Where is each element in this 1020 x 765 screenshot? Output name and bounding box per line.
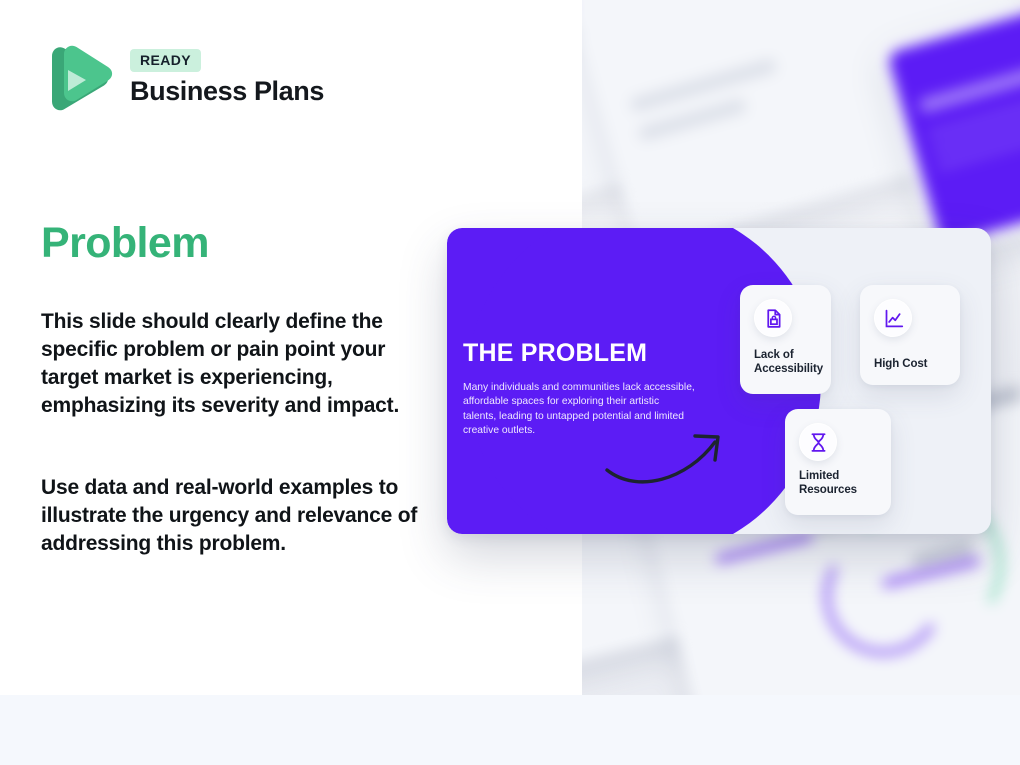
page-title: Problem	[41, 219, 209, 268]
ready-badge: READY	[130, 49, 201, 72]
brand-text: READY Business Plans	[130, 49, 324, 107]
bottom-strip	[0, 695, 1020, 765]
slide-preview-card[interactable]: THE PROBLEM Many individuals and communi…	[447, 228, 991, 534]
feature-card-high-cost[interactable]: High Cost	[860, 285, 960, 385]
document-lock-icon	[754, 299, 792, 337]
slide-heading: THE PROBLEM	[463, 340, 695, 368]
hourglass-icon	[799, 423, 837, 461]
feature-card-accessibility[interactable]: Lack of Accessibility	[740, 285, 831, 394]
feature-card-limited-resources[interactable]: Limited Resources	[785, 409, 891, 515]
description-paragraph-1: This slide should clearly define the spe…	[41, 308, 423, 420]
brand-name: Business Plans	[130, 76, 324, 107]
brand-lockup: READY Business Plans	[42, 40, 324, 116]
feature-label: High Cost	[874, 358, 927, 372]
slide-canvas: READY Business Plans Problem This slide …	[0, 0, 1020, 765]
description-paragraph-2: Use data and real-world examples to illu…	[41, 474, 423, 558]
feature-label: Lack of Accessibility	[754, 349, 831, 376]
line-chart-icon	[874, 299, 912, 337]
play-triangle-logo-icon	[42, 40, 116, 116]
feature-label: Limited Resources	[799, 470, 891, 497]
curved-arrow-icon	[603, 418, 743, 488]
